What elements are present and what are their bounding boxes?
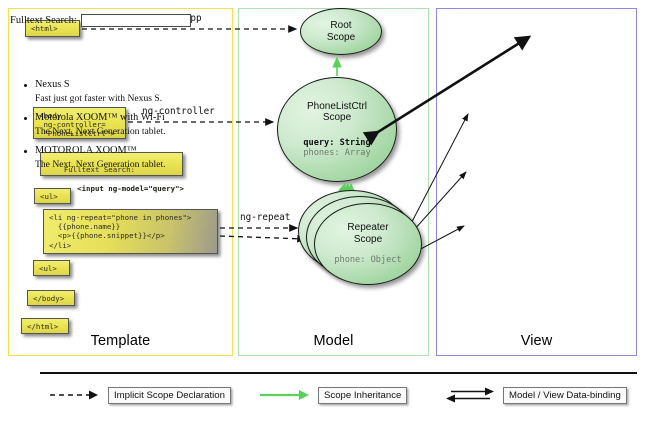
scope-root: Root Scope bbox=[300, 8, 382, 55]
search-label: Fulltext Search: bbox=[10, 15, 77, 26]
diagram-canvas: Template Model View <html> <body ng-cont… bbox=[0, 0, 645, 425]
phone-name: MOTOROLA XOOM™ bbox=[22, 144, 194, 158]
legend-label: Model / View Data-binding bbox=[503, 387, 627, 404]
panel-model-label: Model bbox=[239, 333, 428, 349]
code-box-body-close: </body> bbox=[27, 290, 75, 306]
scope-phonelistctrl: PhoneListCtrl Scope query: String phones… bbox=[277, 77, 397, 182]
panel-view: View bbox=[436, 8, 637, 356]
phone-name: Nexus S bbox=[22, 78, 194, 92]
phone-snippet: The Next, Next Generation tablet. bbox=[22, 158, 194, 172]
scope-root-title-2: Scope bbox=[327, 32, 355, 43]
scope-repeater-title-2: Scope bbox=[354, 234, 382, 245]
code-box-html-close: </html> bbox=[21, 318, 69, 334]
legend-label: Implicit Scope Declaration bbox=[108, 387, 231, 404]
panel-view-label: View bbox=[437, 333, 636, 349]
legend-item-scope-inheritance: Scope Inheritance bbox=[258, 386, 407, 404]
list-item: MOTOROLA XOOM™ The Next, Next Generation… bbox=[22, 144, 194, 172]
phone-list: Nexus S Fast just got faster with Nexus … bbox=[22, 78, 194, 177]
scope-phonelist-title-2: Scope bbox=[323, 112, 351, 123]
green-arrow-icon bbox=[258, 386, 312, 404]
scope-phonelist-title-1: PhoneListCtrl bbox=[307, 101, 367, 112]
search-input[interactable] bbox=[81, 14, 191, 27]
phone-name: Motorola XOOM™ with Wi-Fi bbox=[22, 111, 194, 125]
edge-label-ng-repeat: ng-repeat bbox=[240, 212, 290, 223]
code-box-li-repeat: <li ng-repeat="phone in phones"> {{phone… bbox=[43, 209, 218, 254]
code-box-ul-open: <ul> bbox=[34, 188, 71, 204]
scope-repeater-title-1: Repeater bbox=[347, 222, 388, 233]
legend-item-model-view-data-binding: Model / View Data-binding bbox=[443, 386, 627, 404]
scope-phonelist-prop-query: query: String bbox=[303, 138, 370, 149]
dashed-arrow-icon bbox=[48, 386, 102, 404]
legend-divider bbox=[40, 372, 637, 374]
panel-template-label: Template bbox=[9, 333, 232, 349]
scope-root-title-1: Root bbox=[330, 20, 351, 31]
list-item: Motorola XOOM™ with Wi-Fi The Next, Next… bbox=[22, 111, 194, 139]
legend-label: Scope Inheritance bbox=[318, 387, 407, 404]
code-box-ul-close: <ul> bbox=[33, 260, 70, 276]
scope-repeater: Repeater Scope phone: Object bbox=[314, 203, 422, 285]
list-item: Nexus S Fast just got faster with Nexus … bbox=[22, 78, 194, 106]
panel-model: Model bbox=[238, 8, 429, 356]
scope-repeater-prop-phone: phone: Object bbox=[334, 255, 401, 266]
legend-item-implicit-scope-declaration: Implicit Scope Declaration bbox=[48, 386, 231, 404]
view-search-row: Fulltext Search: bbox=[10, 14, 191, 27]
double-arrow-icon bbox=[443, 386, 497, 404]
phone-snippet: The Next, Next Generation tablet. bbox=[22, 125, 194, 139]
phone-snippet: Fast just got faster with Nexus S. bbox=[22, 92, 194, 106]
legend: Implicit Scope Declaration Scope Inherit… bbox=[8, 372, 637, 420]
code-search-input: <input ng-model="query"> bbox=[64, 184, 184, 193]
scope-phonelist-prop-phones: phones: Array bbox=[303, 148, 370, 159]
